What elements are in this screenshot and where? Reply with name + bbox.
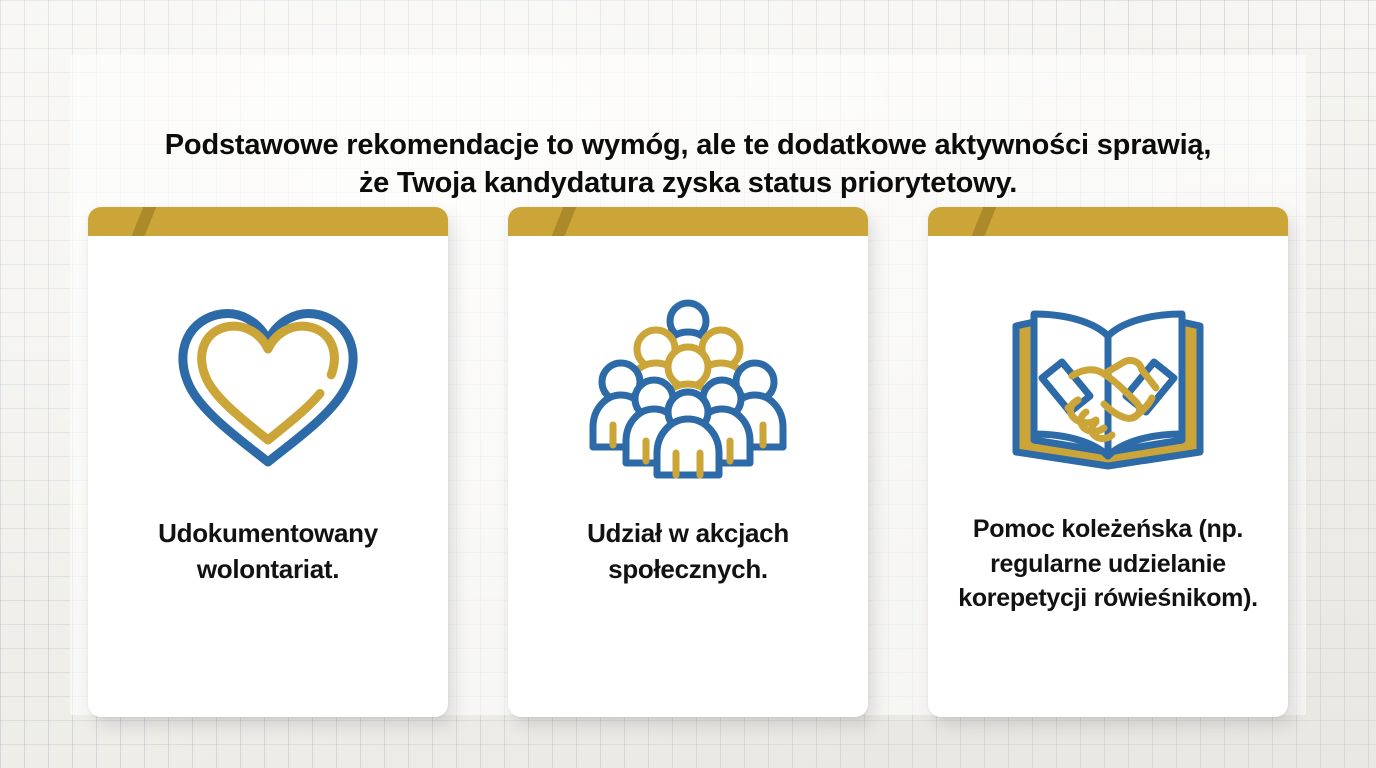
card-body: Udokumentowany wolontariat. xyxy=(88,236,448,717)
card-accent-bar xyxy=(508,207,868,236)
page-title-line-1: Podstawowe rekomendacje to wymóg, ale te… xyxy=(165,129,1211,161)
card-akcje-spoleczne[interactable]: Udział w akcjach społecznych. xyxy=(508,207,868,717)
book-handshake-icon xyxy=(998,292,1218,482)
card-label: Udział w akcjach społecznych. xyxy=(528,516,848,588)
card-wolontariat[interactable]: Udokumentowany wolontariat. xyxy=(88,207,448,717)
heart-icon xyxy=(158,292,378,482)
card-body: Udział w akcjach społecznych. xyxy=(508,236,868,717)
card-label: Udokumentowany wolontariat. xyxy=(108,516,428,588)
card-list: Udokumentowany wolontariat. xyxy=(0,207,1376,719)
card-accent-bar xyxy=(88,207,448,236)
card-accent-bar xyxy=(928,207,1288,236)
page-title: Podstawowe rekomendacje to wymóg, ale te… xyxy=(60,127,1316,202)
card-label: Pomoc koleżeńska (np. regularne udzielan… xyxy=(948,512,1268,616)
card-body: Pomoc koleżeńska (np. regularne udzielan… xyxy=(928,236,1288,717)
page-title-line-2: że Twoja kandydatura zyska status priory… xyxy=(60,165,1316,203)
slide-canvas: Podstawowe rekomendacje to wymóg, ale te… xyxy=(0,0,1376,768)
people-group-icon xyxy=(578,292,798,482)
card-pomoc-kolezenska[interactable]: Pomoc koleżeńska (np. regularne udzielan… xyxy=(928,207,1288,717)
